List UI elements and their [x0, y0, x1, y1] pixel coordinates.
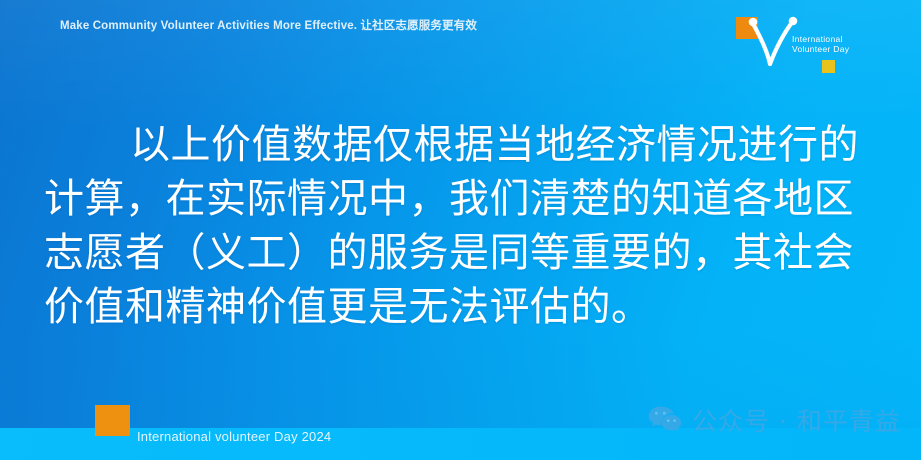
- logo-wordmark: International Volunteer Day: [792, 34, 849, 54]
- international-volunteer-day-logo: International Volunteer Day: [730, 8, 848, 80]
- footer-orange-square: [95, 405, 130, 436]
- wechat-icon: [648, 405, 682, 435]
- slide-body-text: 以上价值数据仅根据当地经济情况进行的计算，在实际情况中，我们清楚的知道各地区志愿…: [44, 118, 889, 334]
- footer-label: International volunteer Day 2024: [137, 429, 331, 444]
- logo-yellow-square: [822, 60, 835, 73]
- header-tagline-english: Make Community Volunteer Activities More…: [60, 20, 360, 32]
- header-tagline-chinese: 让社区志愿服务更有效: [360, 18, 477, 32]
- logo-wordmark-line2: Volunteer Day: [792, 44, 849, 54]
- presentation-slide: Make Community Volunteer Activities More…: [0, 0, 921, 460]
- logo-wordmark-line1: International: [792, 34, 849, 44]
- wechat-account-label: 公众号 · 和平青益: [692, 402, 901, 438]
- header-tagline: Make Community Volunteer Activities More…: [60, 17, 477, 33]
- wechat-watermark: 公众号 · 和平青益: [648, 402, 901, 438]
